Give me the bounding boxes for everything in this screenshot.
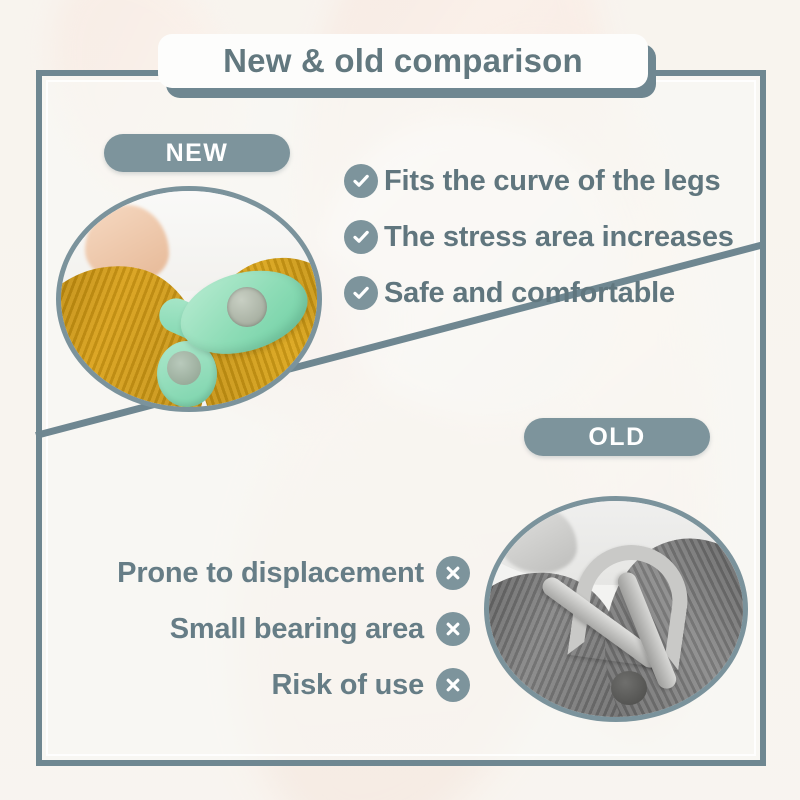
- list-item: Risk of use: [271, 668, 470, 702]
- badge-new: NEW: [104, 134, 290, 172]
- photo-new-product: [56, 186, 322, 412]
- badge-new-label: NEW: [166, 139, 229, 168]
- photo-new-inner: [61, 191, 317, 407]
- photo-old-inner: [489, 501, 743, 717]
- feature-label: The stress area increases: [384, 221, 734, 254]
- photo-old-product: [484, 496, 748, 722]
- x-circle-icon: [436, 612, 470, 646]
- photo-old-clip-tip: [611, 671, 647, 705]
- feature-label: Fits the curve of the legs: [384, 165, 720, 198]
- feature-list-old: Prone to displacement Small bearing area…: [60, 556, 470, 702]
- photo-new-device-disc: [227, 287, 267, 327]
- list-item: Fits the curve of the legs: [344, 164, 764, 198]
- check-circle-icon: [344, 220, 378, 254]
- check-circle-icon: [344, 164, 378, 198]
- list-item: Small bearing area: [170, 612, 470, 646]
- page-title-text: New & old comparison: [223, 42, 583, 80]
- badge-old: OLD: [524, 418, 710, 456]
- page-title: New & old comparison: [158, 34, 648, 90]
- drawback-label: Small bearing area: [170, 613, 424, 646]
- x-circle-icon: [436, 556, 470, 590]
- feature-label: Safe and comfortable: [384, 277, 675, 310]
- check-circle-icon: [344, 276, 378, 310]
- list-item: Safe and comfortable: [344, 276, 764, 310]
- drawback-label: Risk of use: [271, 669, 424, 702]
- list-item: Prone to displacement: [117, 556, 470, 590]
- badge-old-label: OLD: [588, 423, 645, 452]
- comparison-infographic: New & old comparison NEW Fits the: [0, 0, 800, 800]
- feature-list-new: Fits the curve of the legs The stress ar…: [344, 164, 764, 310]
- page-title-card: New & old comparison: [158, 34, 648, 88]
- x-circle-icon: [436, 668, 470, 702]
- drawback-label: Prone to displacement: [117, 557, 424, 590]
- list-item: The stress area increases: [344, 220, 764, 254]
- photo-new-device-lower-disc: [167, 351, 201, 385]
